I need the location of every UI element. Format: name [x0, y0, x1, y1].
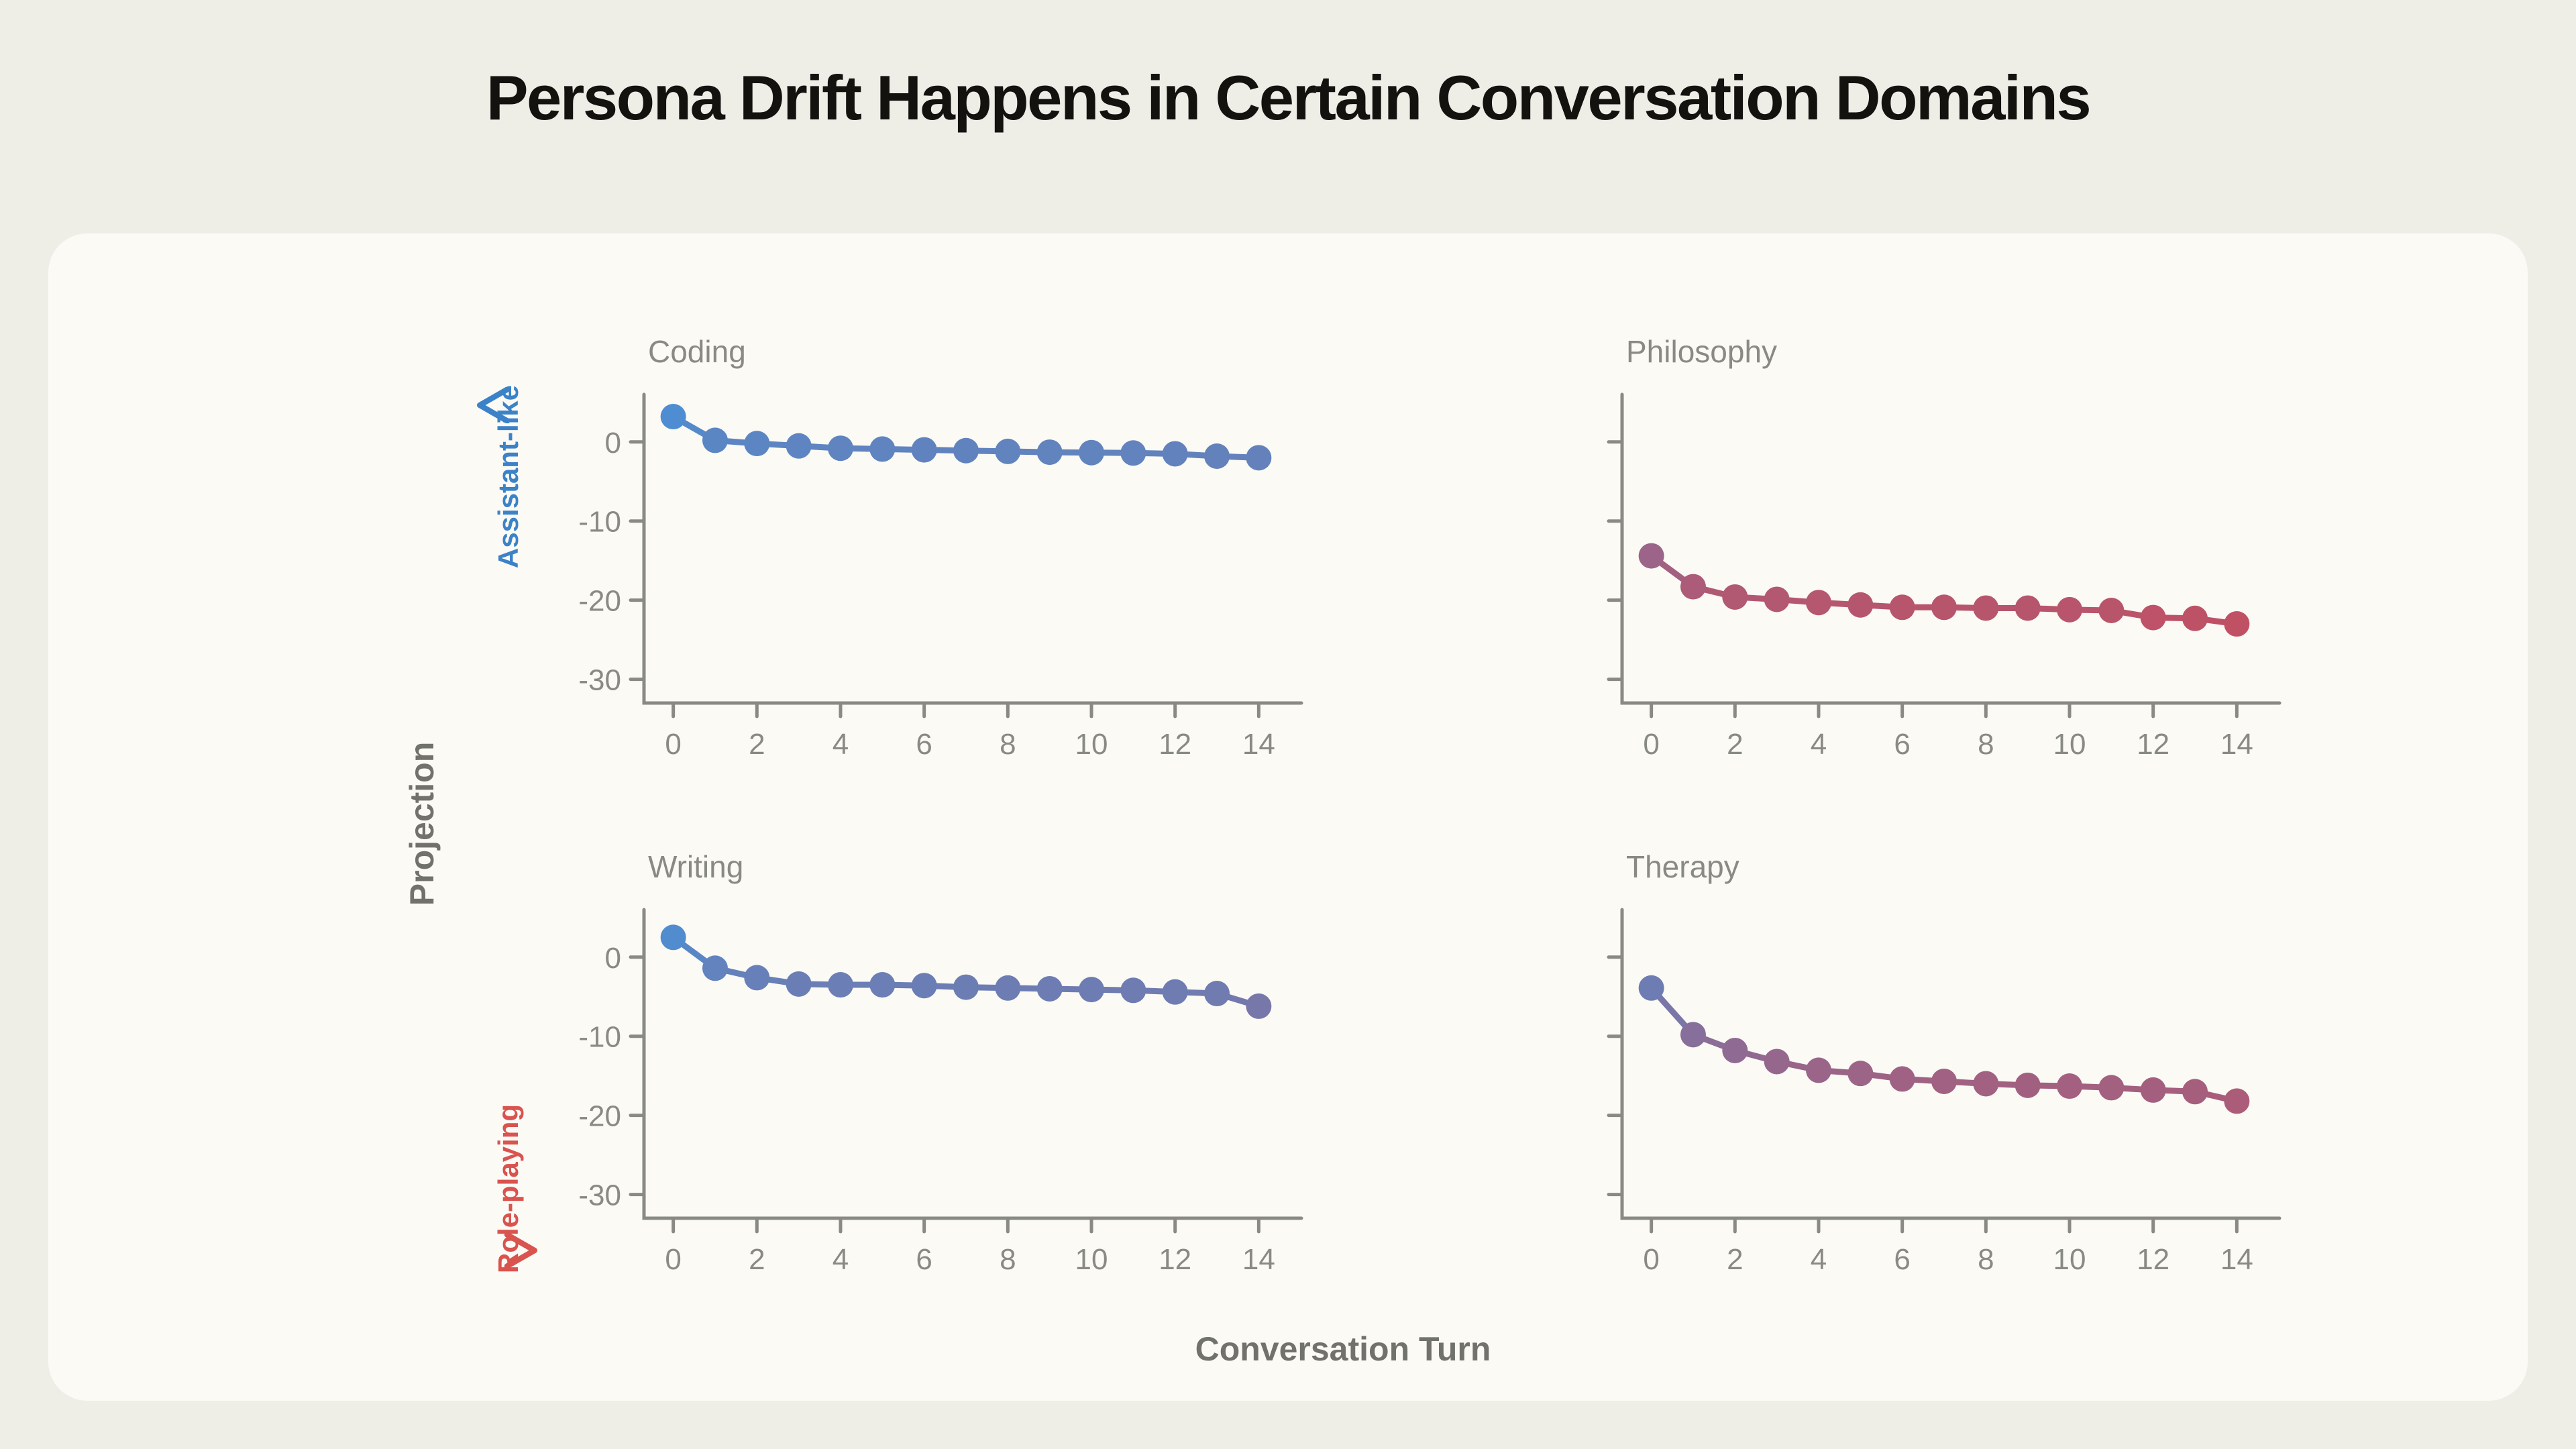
data-point[interactable] [1163, 979, 1188, 1005]
x-tick-label: 10 [2053, 1243, 2086, 1276]
data-point[interactable] [995, 439, 1020, 464]
data-point[interactable] [1246, 445, 1271, 470]
x-tick-label: 8 [1000, 1243, 1016, 1276]
data-point[interactable] [702, 427, 728, 453]
x-tick-label: 0 [1643, 1243, 1659, 1276]
y-tick-label: -20 [578, 585, 621, 618]
data-point[interactable] [702, 955, 728, 981]
data-point[interactable] [1764, 586, 1790, 612]
data-point[interactable] [1806, 590, 1831, 615]
x-tick-label: 8 [1000, 728, 1016, 761]
data-point[interactable] [869, 972, 895, 998]
plot-area: Coding0-10-20-3002468101214Philosophy024… [48, 233, 2528, 1401]
y-tick-label: -30 [578, 664, 621, 697]
x-tick-label: 8 [1978, 1243, 1994, 1276]
x-tick-label: 12 [2137, 728, 2169, 761]
x-tick-label: 2 [1727, 728, 1743, 761]
y-tick-label: 0 [605, 942, 621, 975]
x-tick-label: 14 [1242, 728, 1275, 761]
data-point[interactable] [2141, 605, 2166, 631]
subplot-therapy: Therapy02468101214 [1609, 849, 2279, 1276]
x-axis-title: Conversation Turn [1195, 1330, 1491, 1368]
data-point[interactable] [1680, 1022, 1706, 1047]
data-point[interactable] [1931, 594, 1957, 620]
axis-spines [1622, 910, 2279, 1218]
axis-spines [644, 910, 1301, 1218]
data-point[interactable] [1120, 977, 1146, 1003]
chart-card: Coding0-10-20-3002468101214Philosophy024… [48, 233, 2528, 1401]
x-tick-label: 0 [665, 728, 681, 761]
data-point[interactable] [2182, 1079, 2208, 1104]
data-point[interactable] [1204, 981, 1230, 1006]
subplots-group: Coding0-10-20-3002468101214Philosophy024… [578, 334, 2279, 1276]
data-point[interactable] [2224, 1088, 2249, 1114]
subplot-title: Coding [648, 334, 746, 369]
subplot-title: Writing [648, 849, 743, 884]
y-tick-label: -30 [578, 1179, 621, 1212]
y-tick-label: -10 [578, 506, 621, 539]
data-point[interactable] [1806, 1057, 1831, 1083]
x-tick-label: 6 [916, 1243, 932, 1276]
data-point[interactable] [661, 404, 686, 429]
figure-svg: Coding0-10-20-3002468101214Philosophy024… [48, 233, 2528, 1401]
data-point[interactable] [1204, 443, 1230, 469]
x-tick-label: 10 [1075, 728, 1108, 761]
data-point[interactable] [1079, 977, 1104, 1002]
y-tick-label: -20 [578, 1100, 621, 1133]
data-point[interactable] [1037, 439, 1063, 465]
axis-annotations-group: Assistant-likeRole-playingProjectionConv… [403, 385, 1491, 1368]
data-point[interactable] [1163, 441, 1188, 466]
x-tick-label: 14 [1242, 1243, 1275, 1276]
x-tick-label: 10 [2053, 728, 2086, 761]
x-tick-label: 4 [1811, 728, 1827, 761]
x-tick-label: 4 [833, 728, 849, 761]
data-point[interactable] [1246, 994, 1271, 1019]
data-point[interactable] [1639, 543, 1664, 569]
data-point[interactable] [1680, 574, 1706, 600]
axis-spines [1622, 394, 2279, 703]
data-point[interactable] [1120, 440, 1146, 466]
x-tick-label: 0 [1643, 728, 1659, 761]
y-tick-label: -10 [578, 1021, 621, 1054]
data-point[interactable] [1973, 1071, 1998, 1096]
data-point[interactable] [1847, 1061, 1873, 1086]
subplot-title: Therapy [1626, 849, 1739, 884]
data-point[interactable] [2224, 611, 2249, 637]
chart-page: Persona Drift Happens in Certain Convers… [0, 0, 2576, 1449]
data-point[interactable] [869, 436, 895, 462]
data-point[interactable] [953, 438, 979, 464]
data-point[interactable] [786, 971, 812, 997]
x-tick-label: 2 [749, 728, 765, 761]
data-point[interactable] [2057, 1073, 2082, 1099]
subplot-coding: Coding0-10-20-3002468101214 [578, 334, 1301, 761]
x-tick-label: 14 [2220, 728, 2253, 761]
subplot-title: Philosophy [1626, 334, 1777, 369]
data-point[interactable] [2057, 597, 2082, 623]
data-point[interactable] [1722, 1038, 1748, 1063]
x-tick-label: 4 [833, 1243, 849, 1276]
page-title: Persona Drift Happens in Certain Convers… [0, 62, 2576, 134]
x-tick-label: 12 [1159, 1243, 1191, 1276]
data-point[interactable] [953, 975, 979, 1000]
x-tick-label: 10 [1075, 1243, 1108, 1276]
y-axis-title: Projection [403, 742, 441, 906]
data-point[interactable] [2098, 598, 2124, 623]
subplot-writing: Writing0-10-20-3002468101214 [578, 849, 1301, 1276]
data-point[interactable] [2015, 595, 2041, 621]
data-point[interactable] [2182, 606, 2208, 631]
x-tick-label: 2 [749, 1243, 765, 1276]
x-tick-label: 0 [665, 1243, 681, 1276]
data-point[interactable] [828, 435, 853, 461]
x-tick-label: 6 [1894, 1243, 1910, 1276]
data-point[interactable] [1639, 975, 1664, 1001]
data-point[interactable] [2141, 1077, 2166, 1103]
x-tick-label: 8 [1978, 728, 1994, 761]
data-point[interactable] [2098, 1075, 2124, 1100]
data-point[interactable] [1079, 440, 1104, 466]
subplot-philosophy: Philosophy02468101214 [1609, 334, 2279, 761]
role-playing-annotation: Role-playing [492, 1104, 524, 1273]
data-point[interactable] [1847, 592, 1873, 618]
data-point[interactable] [1722, 584, 1748, 610]
data-point[interactable] [661, 924, 686, 950]
x-tick-label: 4 [1811, 1243, 1827, 1276]
data-point[interactable] [1931, 1069, 1957, 1094]
x-tick-label: 2 [1727, 1243, 1743, 1276]
assistant-like-annotation: Assistant-like [492, 385, 524, 568]
data-point[interactable] [912, 973, 937, 998]
data-point[interactable] [912, 437, 937, 463]
x-tick-label: 12 [2137, 1243, 2169, 1276]
x-tick-label: 14 [2220, 1243, 2253, 1276]
data-point[interactable] [744, 431, 769, 456]
data-point[interactable] [1890, 594, 1915, 620]
x-tick-label: 6 [1894, 728, 1910, 761]
data-point[interactable] [1764, 1049, 1790, 1074]
x-tick-label: 12 [1159, 728, 1191, 761]
x-tick-label: 6 [916, 728, 932, 761]
data-point[interactable] [786, 433, 812, 459]
data-point[interactable] [1037, 976, 1063, 1002]
data-point[interactable] [744, 965, 769, 990]
data-point[interactable] [995, 975, 1020, 1001]
data-point[interactable] [1890, 1066, 1915, 1091]
y-tick-label: 0 [605, 427, 621, 460]
data-point[interactable] [828, 972, 853, 998]
data-point[interactable] [1973, 595, 1998, 621]
data-point[interactable] [2015, 1073, 2041, 1098]
